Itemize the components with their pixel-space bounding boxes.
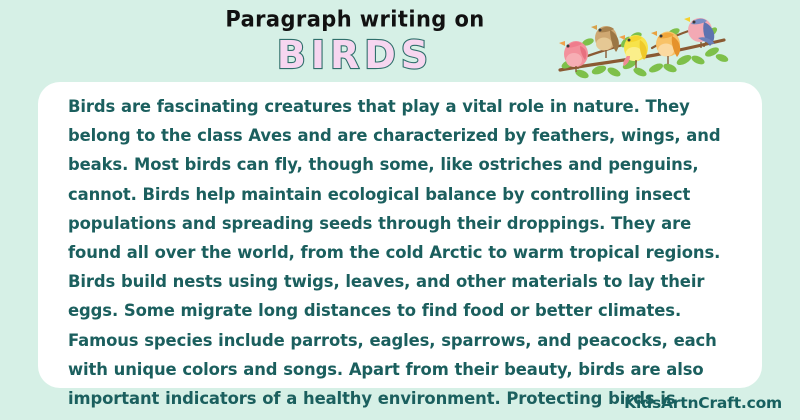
title-kicker: Paragraph writing on bbox=[190, 5, 520, 33]
birds-illustration-svg bbox=[552, 2, 730, 84]
poster-header: Paragraph writing on BIRDS bbox=[0, 0, 800, 84]
paragraph-card: Birds are fascinating creatures that pla… bbox=[38, 82, 762, 388]
orange-bird bbox=[651, 31, 680, 64]
title-block: Paragraph writing on BIRDS bbox=[190, 6, 520, 76]
poster-canvas: Paragraph writing on BIRDS bbox=[0, 0, 800, 420]
blue-bird bbox=[684, 17, 715, 48]
page-title: BIRDS bbox=[190, 34, 520, 76]
birds-on-branch-illustration bbox=[552, 2, 730, 84]
paragraph-text: Birds are fascinating creatures that pla… bbox=[68, 92, 734, 420]
brand-watermark: KidsArtnCraft.com bbox=[624, 394, 782, 412]
